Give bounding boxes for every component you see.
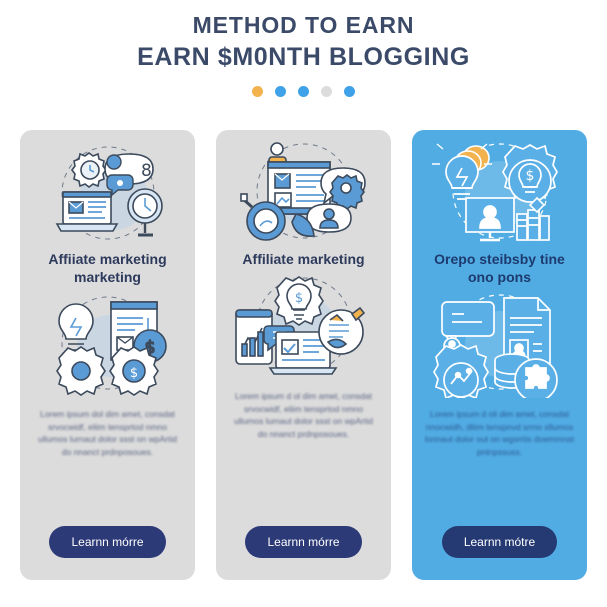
card-2-learn-more-button[interactable]: Learnn mórre [245,526,361,558]
card-3-title: Orepo steibsby tine ono pons [420,250,580,286]
pagination-dot-1[interactable] [252,86,263,97]
card-2-body: Lorem ipsum d ol dim amet, consdat srvoc… [229,390,379,440]
illustration-lightbulb-coins-gear-dollar-monitor-books: $ [420,136,580,246]
pagination-dots[interactable] [0,86,607,97]
card-1-body: Lorem ipsum dol dim amet, consdat srvocw… [33,408,183,458]
pagination-dot-2[interactable] [275,86,286,97]
card-row: 8 [0,130,607,582]
pagination-dot-4[interactable] [321,86,332,97]
illustration-speech-location-document-gear-coins-puzzle [420,288,580,398]
card-1-title: Affiiate marketing marketing [28,250,188,286]
illustration-gear-clock-laptop-envelope-magnifier: 8 [28,136,188,246]
card-3-learn-more-button[interactable]: Learnn mótre [442,526,557,558]
page-title-line-1: METHOD TO EARN [0,10,607,40]
infographic-page: METHOD TO EARN EARN $M0NTH BLOGGING [0,0,607,607]
svg-text:8: 8 [141,161,152,181]
illustration-lightbulb-document-dollar-gears: $ $ [28,288,188,398]
pagination-dot-3[interactable] [298,86,309,97]
card-2-title: Affiliate marketing [224,250,384,268]
card-3[interactable]: $ Orepo steibsby [412,130,587,580]
pagination-dot-5[interactable] [344,86,355,97]
card-3-body: Lorem ipsum d oli dim amet, consdat nnoc… [425,408,575,458]
svg-text:$: $ [525,168,534,184]
page-title-line-2: EARN $M0NTH BLOGGING [0,40,607,74]
svg-text:$: $ [294,291,302,306]
page-header: METHOD TO EARN EARN $M0NTH BLOGGING [0,0,607,97]
illustration-phone-chart-lightbulb-gear-laptop-palette: $ [224,270,384,380]
card-1-learn-more-button[interactable]: Learnn mórre [49,526,165,558]
card-2[interactable]: Affiliate marketing $ [216,130,391,580]
illustration-person-webpage-gear-bubble-magnifier-user [224,136,384,246]
card-1[interactable]: 8 [20,130,195,580]
svg-text:$: $ [129,366,137,381]
